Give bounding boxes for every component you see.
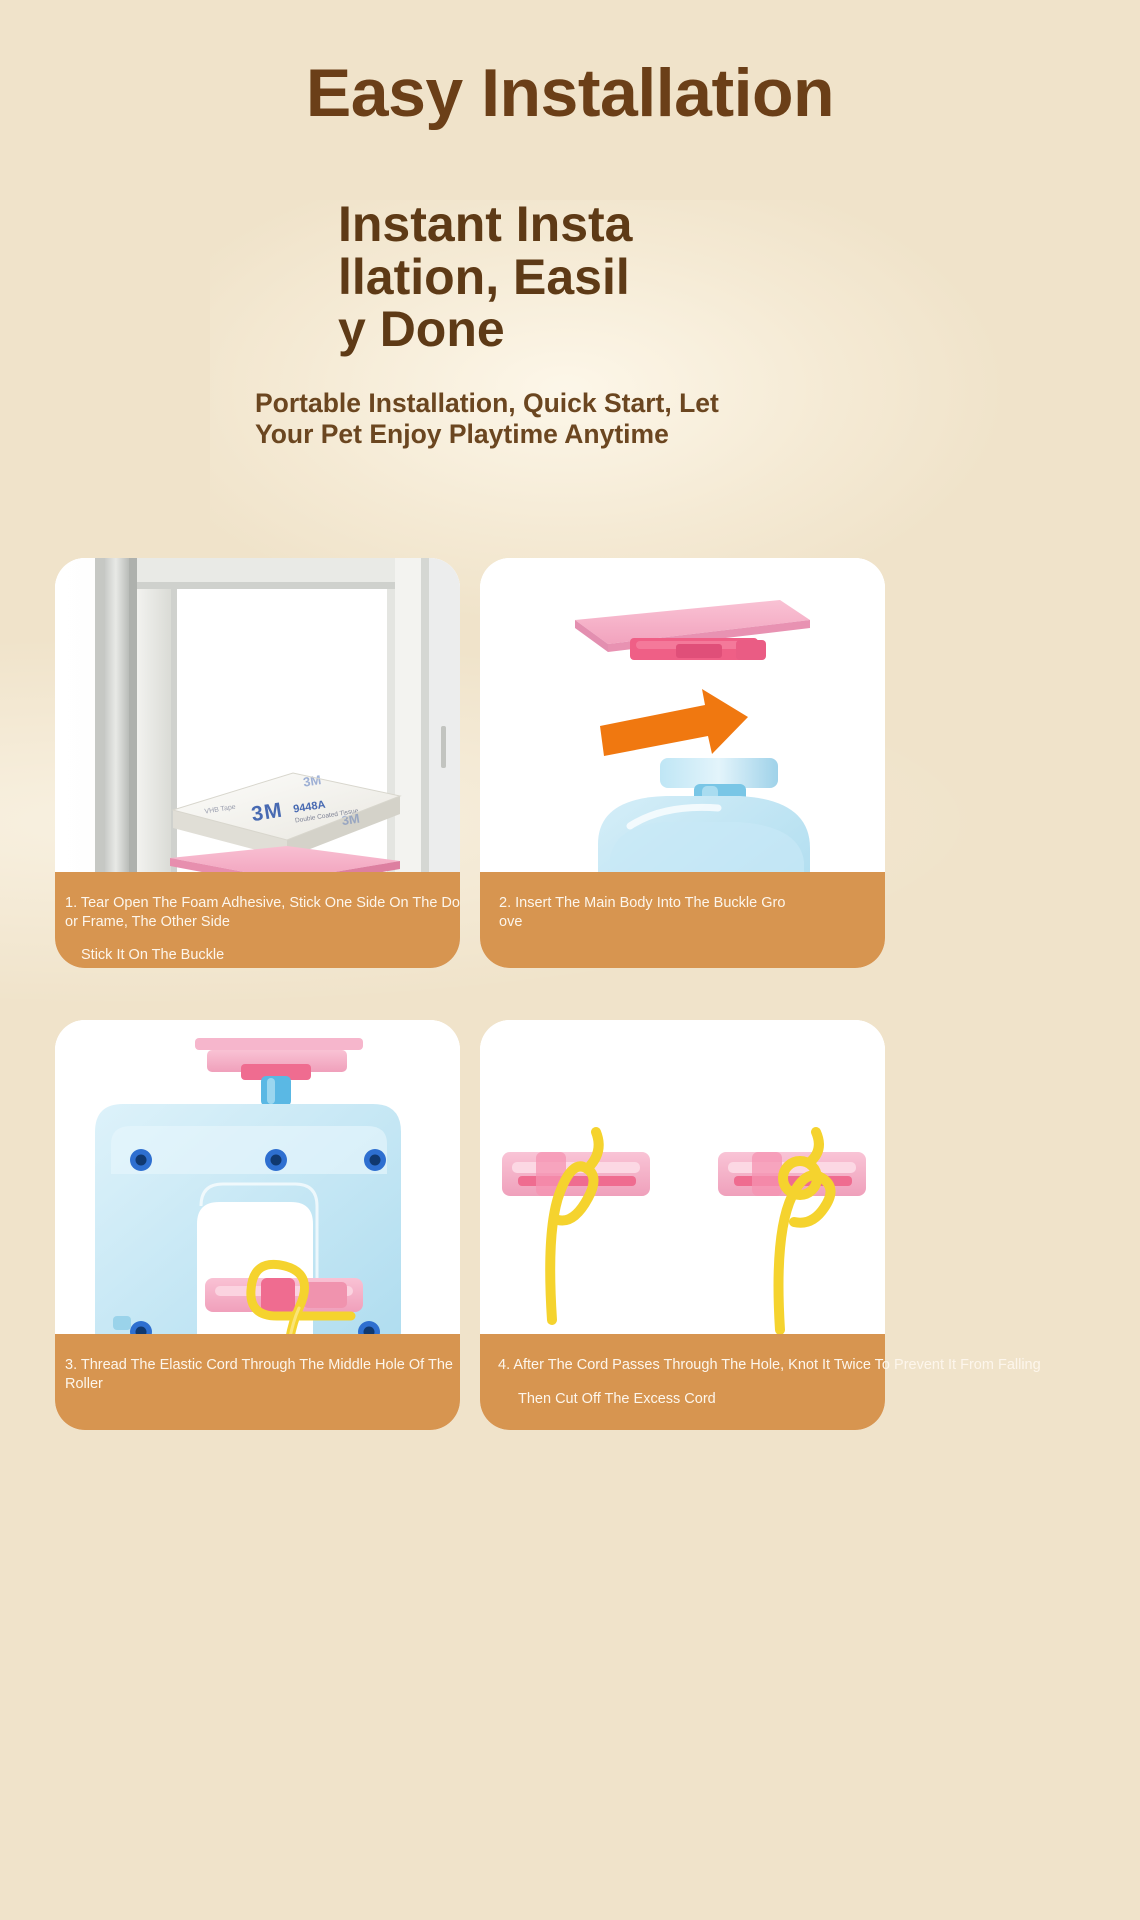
step-4-caption: 4. After The Cord Passes Through The Hol… bbox=[480, 1334, 885, 1430]
step-2-caption: 2. Insert The Main Body Into The Buckle … bbox=[480, 872, 885, 968]
step-1-caption-line2: Stick It On The Buckle bbox=[65, 946, 460, 965]
step-1-caption: 1. Tear Open The Foam Adhesive, Stick On… bbox=[55, 872, 460, 968]
step-card-2: 2. Insert The Main Body Into The Buckle … bbox=[480, 558, 885, 968]
description-block: Portable Installation, Quick Start, Let … bbox=[255, 388, 731, 451]
step-3-caption-line1: 3. Thread The Elastic Cord Through The M… bbox=[65, 1356, 460, 1393]
headline-block: Instant Installation, Easily Done bbox=[338, 198, 638, 356]
svg-text:3M: 3M bbox=[302, 772, 322, 790]
step-card-1: 3M 9448A Double Coated Tissue VHB Tape 3… bbox=[55, 558, 460, 968]
step-card-4: 4. After The Cord Passes Through The Hol… bbox=[480, 1020, 885, 1430]
product-infographic-page: Easy Installation Instant Installation, … bbox=[0, 0, 1140, 1920]
step-4-caption-line2: Then Cut Off The Excess Cord bbox=[490, 1390, 885, 1409]
svg-text:3M: 3M bbox=[341, 811, 361, 829]
step-card-3: 3. Thread The Elastic Cord Through The M… bbox=[55, 1020, 460, 1430]
steps-grid: 3M 9448A Double Coated Tissue VHB Tape 3… bbox=[55, 558, 1085, 1430]
page-title: Easy Installation bbox=[0, 56, 1140, 131]
svg-text:3M: 3M bbox=[250, 799, 284, 827]
headline-text: Instant Installation, Easily Done bbox=[338, 198, 638, 356]
step-3-caption: 3. Thread The Elastic Cord Through The M… bbox=[55, 1334, 460, 1430]
step-1-caption-line1: 1. Tear Open The Foam Adhesive, Stick On… bbox=[65, 894, 460, 931]
step-2-caption-line1: 2. Insert The Main Body Into The Buckle … bbox=[490, 894, 790, 931]
step-4-caption-line1: 4. After The Cord Passes Through The Hol… bbox=[490, 1356, 1140, 1375]
description-text: Portable Installation, Quick Start, Let … bbox=[255, 388, 731, 451]
